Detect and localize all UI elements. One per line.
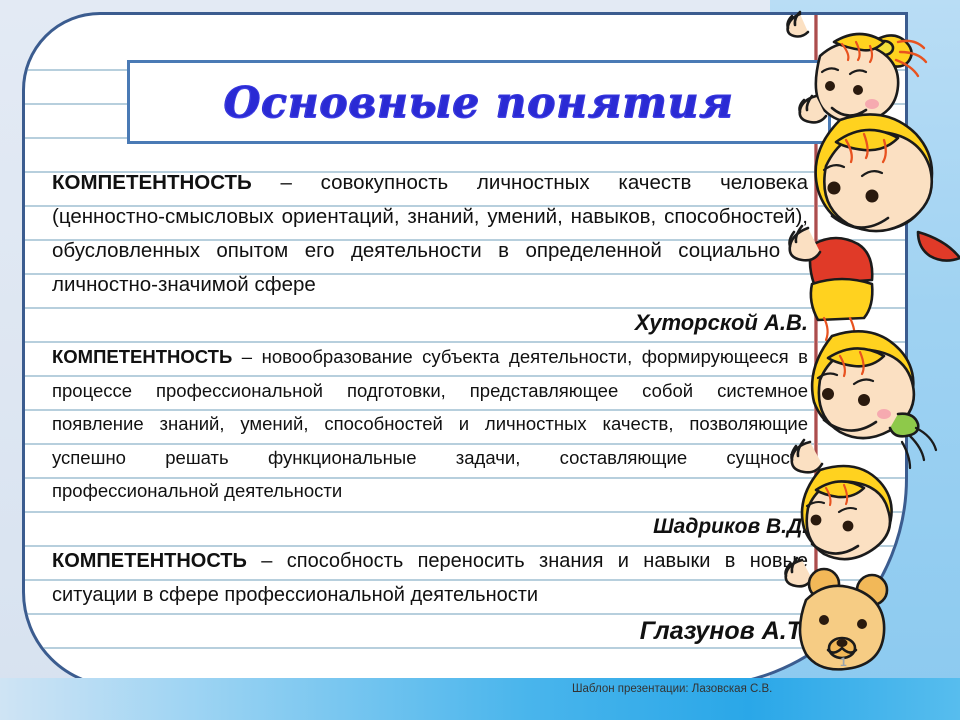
definition-paragraph-1: КОМПЕТЕНТНОСТЬ – совокупность личностных… (52, 166, 808, 302)
definition-dash-2: – (232, 346, 261, 367)
definition-term-2: КОМПЕТЕНТНОСТЬ (52, 346, 232, 367)
slide-number: 1 (840, 655, 847, 669)
template-credit: Шаблон презентации: Лазовская С.В. (572, 683, 772, 695)
definition-term-1: КОМПЕТЕНТНОСТЬ (52, 171, 252, 194)
definition-body-2: новообразование субъекта деятельности, ф… (52, 346, 808, 501)
definition-paragraph-2: КОМПЕТЕНТНОСТЬ – новообразование субъект… (52, 340, 808, 508)
child-head-1 (788, 12, 927, 122)
definition-term-3: КОМПЕТЕНТНОСТЬ (52, 550, 247, 572)
definition-author-2: Шадриков В.Д. (52, 510, 808, 544)
definitions-list: КОМПЕТЕНТНОСТЬ – совокупность личностных… (52, 166, 808, 648)
page-title: Основные понятия (224, 78, 734, 127)
definition-author-1: Хуторской А.В. (52, 306, 808, 340)
definition-dash-1: – (252, 171, 321, 194)
definition-dash-3: – (247, 550, 287, 572)
child-head-4 (786, 466, 892, 586)
cartoon-children-illustration (780, 0, 960, 700)
slide-canvas: Основные понятия КОМПЕТЕНТНОСТЬ – совоку… (0, 0, 960, 720)
definition-paragraph-3: КОМПЕТЕНТНОСТЬ – способность переносить … (52, 544, 808, 612)
child-head-3 (792, 331, 937, 472)
child-head-2 (790, 114, 960, 340)
definition-author-3: Глазунов А.Т. (52, 614, 808, 648)
title-box: Основные понятия (127, 60, 831, 144)
